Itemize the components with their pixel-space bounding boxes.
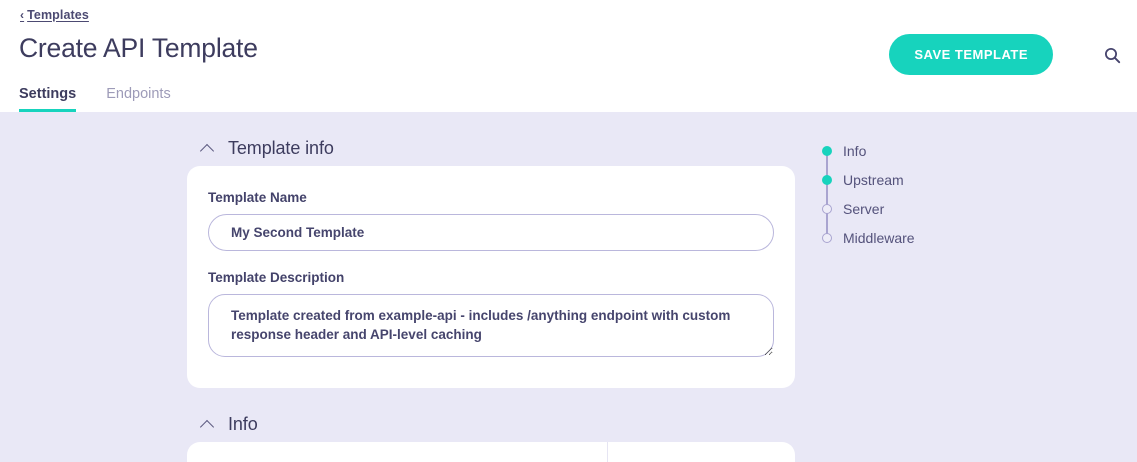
- stepper-item-label: Middleware: [843, 230, 915, 246]
- chevron-left-icon: ‹: [20, 9, 24, 21]
- section-header-info[interactable]: Info: [187, 406, 795, 442]
- stepper-item-upstream[interactable]: Upstream: [820, 165, 1030, 194]
- main-column: Template info Template Name Template Des…: [187, 112, 795, 462]
- section-header-template-info[interactable]: Template info: [187, 130, 795, 166]
- info-card: [187, 442, 795, 462]
- stepper-item-label: Info: [843, 143, 866, 159]
- search-button[interactable]: [1099, 42, 1125, 68]
- save-template-button[interactable]: SAVE TEMPLATE: [889, 34, 1053, 75]
- tab-bar: Settings Endpoints: [19, 86, 171, 112]
- template-name-label: Template Name: [208, 190, 774, 205]
- template-info-card: Template Name Template Description: [187, 166, 795, 388]
- info-card-right-pane: [608, 442, 795, 462]
- stepper-item-server[interactable]: Server: [820, 194, 1030, 223]
- stepper-item-label: Upstream: [843, 172, 904, 188]
- breadcrumb-back-label: Templates: [27, 8, 89, 22]
- stepper-dot-filled-icon: [822, 146, 832, 156]
- stepper-item-info[interactable]: Info: [820, 136, 1030, 165]
- stepper-dot-filled-icon: [822, 175, 832, 185]
- section-stepper-nav: Info Upstream Server Middleware: [820, 136, 1030, 252]
- section-title: Info: [228, 414, 258, 435]
- info-card-left-pane: [187, 442, 608, 462]
- section-title: Template info: [228, 138, 334, 159]
- page-content: Template info Template Name Template Des…: [0, 112, 1137, 462]
- chevron-up-icon: [201, 141, 215, 155]
- page-title: Create API Template: [19, 33, 258, 64]
- search-icon: [1104, 47, 1121, 64]
- breadcrumb-back-link[interactable]: ‹ Templates: [20, 8, 89, 22]
- stepper-item-label: Server: [843, 201, 884, 217]
- stepper-dot-hollow-icon: [822, 233, 832, 243]
- template-name-input[interactable]: [208, 214, 774, 251]
- chevron-up-icon: [201, 417, 215, 431]
- template-description-label: Template Description: [208, 270, 774, 285]
- tab-endpoints[interactable]: Endpoints: [106, 86, 171, 112]
- stepper-dot-hollow-icon: [822, 204, 832, 214]
- template-description-textarea[interactable]: [208, 294, 774, 357]
- stepper-item-middleware[interactable]: Middleware: [820, 223, 1030, 252]
- tab-settings[interactable]: Settings: [19, 86, 76, 112]
- app-header: ‹ Templates Create API Template Settings…: [0, 0, 1137, 112]
